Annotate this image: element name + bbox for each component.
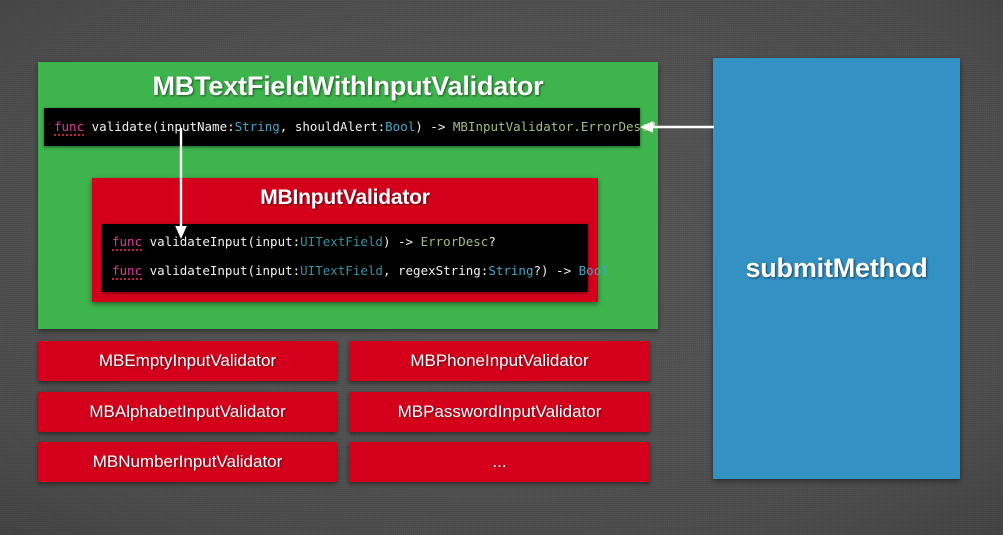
- optional-mark: ?: [649, 119, 657, 134]
- method-name-validate: validate(inputName:: [84, 119, 235, 134]
- subclass-label: MBNumberInputValidator: [93, 452, 283, 472]
- diagram-canvas: MBTextFieldWithInputValidator func valid…: [0, 0, 1003, 535]
- subclass-chip-mbpasswordinputvalidator[interactable]: MBPasswordInputValidator: [349, 392, 650, 432]
- return-arrow: ) ->: [541, 263, 579, 278]
- class-title-mbinputvalidator: MBInputValidator: [92, 186, 598, 210]
- subclass-label: MBPhoneInputValidator: [410, 351, 588, 371]
- code-line-validateinput-1: func validateInput(input:UITextField) ->…: [112, 234, 588, 249]
- subclass-chip-mbnumberinputvalidator[interactable]: MBNumberInputValidator: [38, 442, 337, 482]
- optional-mark: ?: [488, 234, 496, 249]
- type-uitextfield: UITextField: [300, 263, 383, 278]
- code-bar-validateinput-signatures: func validateInput(input:UITextField) ->…: [102, 224, 588, 292]
- subclass-label: MBAlphabetInputValidator: [89, 402, 285, 422]
- subclass-label: ...: [492, 452, 506, 472]
- method-name-validateinput: validateInput(input:: [142, 263, 300, 278]
- optional-mark: ?: [533, 263, 541, 278]
- method-name-validateinput: validateInput(input:: [142, 234, 300, 249]
- code-bar-validate-signature: func validate(inputName:String, shouldAl…: [44, 108, 640, 146]
- return-arrow: ) ->: [383, 234, 421, 249]
- code-line-validateinput-2: func validateInput(input:UITextField, re…: [112, 263, 588, 278]
- type-mbinputvalidator-errordesc: MBInputValidator.ErrorDesc: [453, 119, 649, 134]
- type-bool: Bool: [385, 119, 415, 134]
- subclass-chip-mbalphabetinputvalidator[interactable]: MBAlphabetInputValidator: [38, 392, 337, 432]
- code-line-validate: func validate(inputName:String, shouldAl…: [54, 119, 640, 134]
- param-separator: , regexString:: [383, 263, 488, 278]
- subclass-chip-mbemptyinputvalidator[interactable]: MBEmptyInputValidator: [38, 341, 337, 381]
- subclass-label: MBEmptyInputValidator: [99, 351, 276, 371]
- type-string: String: [488, 263, 533, 278]
- class-box-submitmethod[interactable]: submitMethod: [713, 58, 960, 479]
- subclass-chip-mbphoneinputvalidator[interactable]: MBPhoneInputValidator: [349, 341, 650, 381]
- type-bool: Bool: [579, 263, 609, 278]
- keyword-func: func: [112, 234, 142, 251]
- type-errordesc: ErrorDesc: [421, 234, 489, 249]
- return-arrow: ) ->: [415, 119, 453, 134]
- type-string: String: [235, 119, 280, 134]
- subclass-chip-ellipsis[interactable]: ...: [349, 442, 650, 482]
- class-title-mbtextfieldwithinputvalidator: MBTextFieldWithInputValidator: [38, 71, 658, 102]
- param-separator: , shouldAlert:: [280, 119, 385, 134]
- keyword-func: func: [54, 119, 84, 136]
- class-title-submitmethod: submitMethod: [745, 253, 927, 284]
- subclass-label: MBPasswordInputValidator: [398, 402, 602, 422]
- keyword-func: func: [112, 263, 142, 280]
- type-uitextfield: UITextField: [300, 234, 383, 249]
